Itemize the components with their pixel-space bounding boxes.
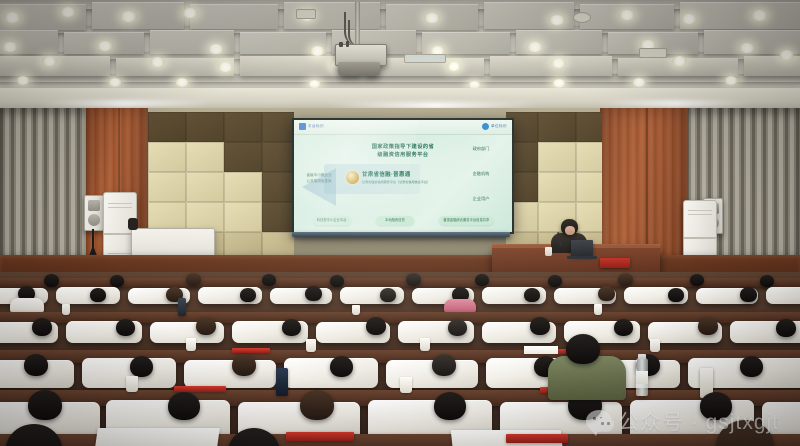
downlight [619,10,635,20]
attendee-head [262,274,276,286]
attendee-head [434,392,466,420]
attendee-head [406,273,421,286]
attendee-head [380,288,396,302]
paper-cup [594,304,602,315]
downlight [310,46,325,56]
attendee-head [32,318,52,336]
attendee-head [448,319,467,336]
attendee-head [566,334,600,364]
speaker-left [84,195,104,231]
attendee-head [740,356,763,377]
downlight [724,76,738,85]
projection-screen: 平台标识 单位标识 国家政策指导下建设的省 级融资信用服务平台 省级中小微企业 … [292,118,514,234]
red-folder [232,348,270,353]
downlight [424,13,440,23]
seat-cover [270,288,332,304]
paper-cup [420,338,430,351]
window-blinds-left [0,108,86,276]
slide-center-title: 甘肃省信融·普惠通 [362,170,430,178]
attendee-head [24,354,48,376]
paper-cup [62,304,70,315]
attendee-head [110,275,124,287]
slide-emblem-icon [346,171,359,184]
attendee-head [44,274,59,287]
slide-pill: 普惠金融综合服务平台信息共享 [439,216,493,225]
downlight [97,41,113,51]
downlight [182,8,198,18]
attendee-head [690,274,704,286]
attendee-head [130,356,153,377]
attendee-head [618,273,633,286]
downlight [42,56,57,66]
attendee-head [524,288,540,302]
downlight [150,57,165,67]
downlight [739,43,755,53]
attendee-head [330,356,353,377]
attendee-torso [10,298,44,312]
downlight [552,79,566,88]
attendee-head [196,317,216,335]
downlight [208,44,224,54]
downlight [218,62,233,72]
downlight [751,10,768,21]
ceiling-fixture [573,12,591,23]
ceiling-fixture [296,9,316,19]
slide-pill-row: 科技型中小企业平台 本地融资信贷 普惠金融综合服务平台信息共享 [294,216,512,225]
downlight [549,15,565,25]
slide-logo-left-label: 平台标识 [308,124,324,129]
ceiling [0,0,800,98]
seat-cover [184,360,276,388]
attendee-head [300,390,334,420]
downlight [175,78,189,87]
document [94,428,220,446]
paper-cup [400,377,412,393]
attendee-head [366,317,386,335]
slide-logo-left-mark [299,123,306,130]
slide-logo-right-mark [482,123,489,130]
attendee-head [186,273,201,286]
attendee-head [168,392,200,420]
thermos-bottle [276,368,288,396]
slide-center-subtitle: 甘肃省融资信用服务平台（甘肃省信用信息平台） [362,179,430,184]
red-folder [506,434,568,443]
attendee-torso [444,299,476,312]
document [524,346,558,354]
thermos-bottle [178,298,186,316]
attendee-head [530,317,550,335]
slide-left-label: 省级中小微企业 公共信用信息库 [298,172,340,184]
slide-logo-left: 平台标识 [299,123,324,130]
paper-cup [186,338,196,351]
slide-right-item: 金融机构 [456,171,506,176]
conference-hall-photo: 平台标识 单位标识 国家政策指导下建设的省 级融资信用服务平台 省级中小微企业 … [0,0,800,446]
attendee-head [548,275,562,287]
slide-right-list: 政府部门 金融机构 企业用户 [456,146,506,221]
audience-area [0,272,800,446]
seat-cover [766,287,800,304]
slide-pill: 科技型中小企业平台 [313,216,351,225]
attendee-head [698,317,718,335]
downlight [632,78,646,87]
ceiling-fixture [639,48,667,58]
attendee-head [90,288,106,302]
downlight [2,42,18,52]
downlight [447,62,461,71]
slide-logo-right: 单位标识 [482,123,507,130]
attendee-head [116,319,135,336]
ceiling-fixture [404,54,446,63]
downlight [527,42,543,52]
slide-header: 平台标识 单位标识 [294,120,512,135]
projector-lens [338,62,380,76]
slide-right-item: 政府部门 [456,146,506,151]
attendee-head [760,275,774,287]
water-bottle [636,358,648,396]
downlight [779,50,794,60]
attendee-head [432,354,456,376]
downlight [551,58,566,68]
attendee-head [330,275,344,287]
paper-cup [126,376,138,392]
downlight [120,11,137,22]
attendee-head [240,288,256,302]
red-nameplate [600,258,630,268]
downlight [4,12,21,23]
equipment-box [128,218,138,230]
attendee-head [28,390,62,420]
attendee-head [614,319,633,336]
slide-center-block: 甘肃省信融·普惠通 甘肃省融资信用服务平台（甘肃省信用信息平台） [346,170,430,184]
paper-cup [545,247,552,256]
attendee-head [475,274,489,286]
downlight [672,56,687,66]
attendee-head [776,319,796,337]
attendee-head [232,354,256,376]
downlight [108,78,122,87]
attendee-head [668,288,684,302]
attendee-head [598,286,615,301]
slide-right-item: 企业用户 [456,196,506,201]
red-folder [286,432,354,441]
attendee-head [700,392,732,420]
presenter-laptop [571,240,593,256]
slide-logo-right-label: 单位标识 [491,124,507,129]
downlight [681,14,697,24]
slide-pill: 本地融资信贷 [376,216,414,225]
paper-cup [306,339,316,352]
attendee-head [740,287,757,302]
screen-bottom-bar [292,232,510,237]
presenter-face [565,226,575,235]
seat-cover [56,287,120,304]
attendee-head [282,319,301,336]
paper-cup [352,305,360,315]
slide-left-label-line2: 公共信用信息库 [298,178,340,184]
downlight [16,76,30,85]
slide-content: 平台标识 单位标识 国家政策指导下建设的省 级融资信用服务平台 省级中小微企业 … [294,120,512,232]
paper-cup [650,339,660,352]
downlight [60,7,76,17]
attendee-head [305,286,322,301]
projector-cable [348,20,359,46]
